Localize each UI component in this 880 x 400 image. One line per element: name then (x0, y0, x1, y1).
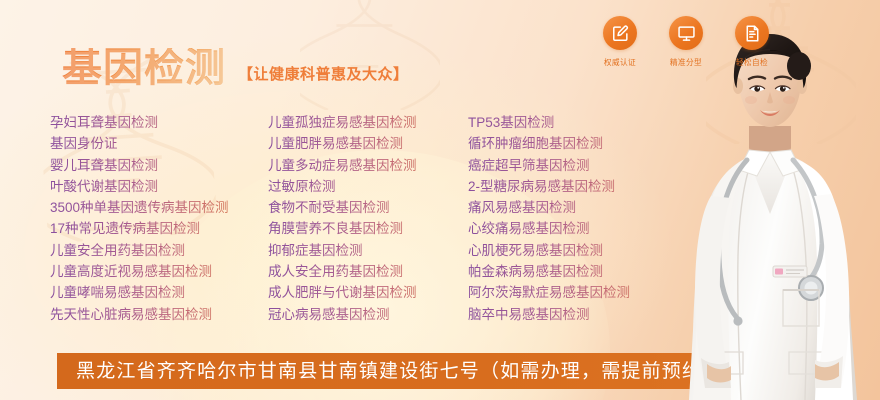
list-item[interactable]: 阿尔茨海默症易感基因检测 (468, 282, 688, 303)
service-column-3: TP53基因检测 循环肿瘤细胞基因检测 癌症超早筛基因检测 2-型糖尿病易感基因… (468, 112, 688, 325)
list-item[interactable]: 心绞痛易感基因检测 (468, 218, 688, 239)
list-item[interactable]: 17种常见遗传病基因检测 (50, 218, 268, 239)
service-list: 孕妇耳聋基因检测 基因身份证 婴儿耳聋基因检测 叶酸代谢基因检测 3500种单基… (50, 112, 690, 325)
list-item[interactable]: 基因身份证 (50, 133, 268, 154)
list-item[interactable]: 孕妇耳聋基因检测 (50, 112, 268, 133)
list-item[interactable]: 叶酸代谢基因检测 (50, 176, 268, 197)
service-column-2: 儿童孤独症易感基因检测 儿童肥胖易感基因检测 儿童多动症易感基因检测 过敏原检测… (268, 112, 468, 325)
service-column-1: 孕妇耳聋基因检测 基因身份证 婴儿耳聋基因检测 叶酸代谢基因检测 3500种单基… (50, 112, 268, 325)
list-item[interactable]: 儿童孤独症易感基因检测 (268, 112, 468, 133)
list-item[interactable]: 2-型糖尿病易感基因检测 (468, 176, 688, 197)
list-item[interactable]: 冠心病易感基因检测 (268, 304, 468, 325)
certificate-edit-icon (603, 16, 637, 50)
feature-label: 轻松自检 (729, 57, 775, 68)
list-item[interactable]: 痛风易感基因检测 (468, 197, 688, 218)
gene-testing-poster: 基因检测 【让健康科普惠及大众】 权威认证 精准分型 (0, 0, 880, 400)
list-item[interactable]: 角膜营养不良基因检测 (268, 218, 468, 239)
list-item[interactable]: 婴儿耳聋基因检测 (50, 155, 268, 176)
list-item[interactable]: 儿童高度近视易感基因检测 (50, 261, 268, 282)
list-item[interactable]: 儿童安全用药基因检测 (50, 240, 268, 261)
list-item[interactable]: 心肌梗死易感基因检测 (468, 240, 688, 261)
feature-label: 精准分型 (663, 57, 709, 68)
list-item[interactable]: 儿童哮喘易感基因检测 (50, 282, 268, 303)
address-text: 黑龙江省齐齐哈尔市甘南县甘南镇建设街七号（如需办理，需提前预约） (76, 362, 722, 381)
list-item[interactable]: 循环肿瘤细胞基因检测 (468, 133, 688, 154)
list-item[interactable]: 癌症超早筛基因检测 (468, 155, 688, 176)
list-item[interactable]: TP53基因检测 (468, 112, 688, 133)
list-item[interactable]: 3500种单基因遗传病基因检测 (50, 197, 268, 218)
list-item[interactable]: 成人肥胖与代谢基因检测 (268, 282, 468, 303)
feature-badge-group: 权威认证 精准分型 轻松自检 (596, 16, 776, 68)
feature-precise-typing[interactable]: 精准分型 (662, 16, 710, 68)
list-item[interactable]: 过敏原检测 (268, 176, 468, 197)
feature-authority-certification[interactable]: 权威认证 (596, 16, 644, 68)
list-item[interactable]: 抑郁症基因检测 (268, 240, 468, 261)
poster-heading: 基因检测 【让健康科普惠及大众】 (62, 48, 409, 88)
address-banner: 黑龙江省齐齐哈尔市甘南县甘南镇建设街七号（如需办理，需提前预约） (57, 353, 823, 389)
list-item[interactable]: 先天性心脏病易感基因检测 (50, 304, 268, 325)
list-item[interactable]: 儿童多动症易感基因检测 (268, 155, 468, 176)
list-item[interactable]: 食物不耐受基因检测 (268, 197, 468, 218)
feature-easy-self-test[interactable]: 轻松自检 (728, 16, 776, 68)
feature-label: 权威认证 (597, 57, 643, 68)
document-report-icon (735, 16, 769, 50)
list-item[interactable]: 成人安全用药基因检测 (268, 261, 468, 282)
page-subtitle: 【让健康科普惠及大众】 (238, 63, 409, 88)
list-item[interactable]: 儿童肥胖易感基因检测 (268, 133, 468, 154)
list-item[interactable]: 帕金森病易感基因检测 (468, 261, 688, 282)
list-item[interactable]: 脑卒中易感基因检测 (468, 304, 688, 325)
page-title: 基因检测 (62, 48, 226, 88)
monitor-screen-icon (669, 16, 703, 50)
